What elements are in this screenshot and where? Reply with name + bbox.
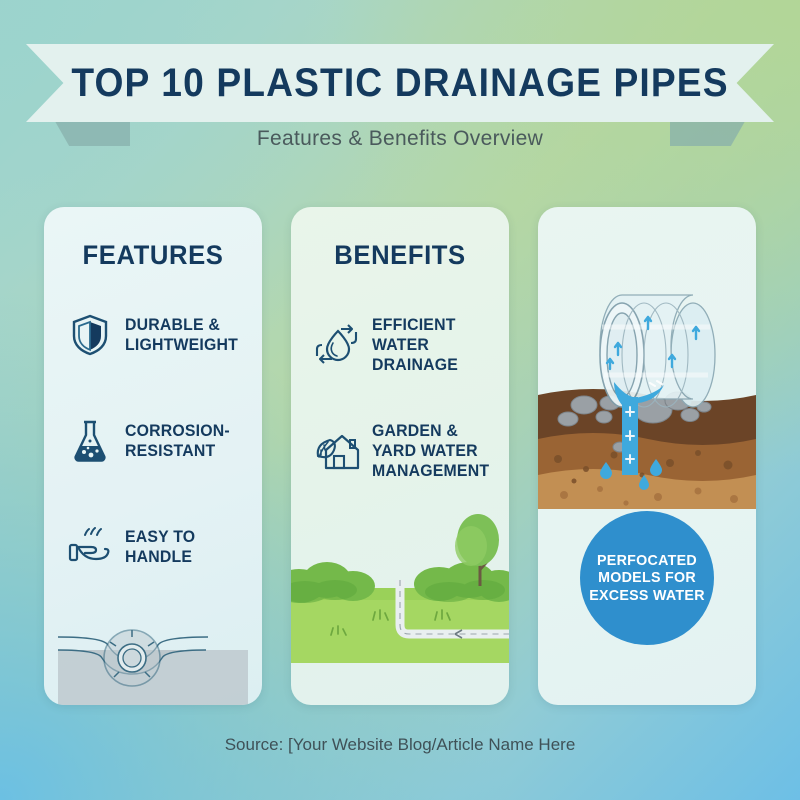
feature-item-easy-handle[interactable]: EASY TO HANDLE xyxy=(66,523,262,571)
house-leaf-icon xyxy=(313,427,361,475)
drainage-card: PERFOCATED MODELS FOR EXCESS WATER xyxy=(538,207,756,705)
feature-item-durable[interactable]: DURABLE & LIGHTWEIGHT xyxy=(66,311,262,359)
hand-icon xyxy=(66,523,114,571)
benefit-label: GARDEN & YARD WATER MANAGEMENT xyxy=(372,421,504,481)
benefits-title: BENEFITS xyxy=(296,240,503,271)
badge-text: PERFOCATED MODELS FOR EXCESS WATER xyxy=(583,552,710,604)
feature-label: CORROSION-RESISTANT xyxy=(125,421,257,461)
pipe-cross-section-illustration xyxy=(44,595,262,705)
benefit-label: EFFICIENT WATER DRAINAGE xyxy=(372,315,504,375)
features-title: FEATURES xyxy=(49,240,256,271)
page-title: TOP 10 PLASTIC DRAINAGE PIPES xyxy=(28,44,772,122)
benefit-item-drainage[interactable]: EFFICIENT WATER DRAINAGE xyxy=(313,315,509,375)
benefit-item-garden[interactable]: GARDEN & YARD WATER MANAGEMENT xyxy=(313,421,509,481)
features-card: FEATURES DURABLE & LIGHTWEIGHT xyxy=(44,207,262,705)
feature-item-corrosion[interactable]: CORROSION-RESISTANT xyxy=(66,417,262,465)
water-drop-recycle-icon xyxy=(313,321,361,369)
status-badge: PERFOCATED MODELS FOR EXCESS WATER xyxy=(580,511,714,645)
benefits-card: BENEFITS EFFICIENT WATER DRAINAGE xyxy=(291,207,509,705)
columns-container: FEATURES DURABLE & LIGHTWEIGHT xyxy=(0,207,800,705)
flask-icon xyxy=(66,417,114,465)
feature-label: DURABLE & LIGHTWEIGHT xyxy=(125,315,257,355)
footer-source: Source: [Your Website Blog/Article Name … xyxy=(0,735,800,755)
page-subtitle: Features & Benefits Overview xyxy=(0,127,800,151)
garden-landscape-illustration xyxy=(291,500,509,705)
shield-icon xyxy=(66,311,114,359)
feature-label: EASY TO HANDLE xyxy=(125,527,257,567)
